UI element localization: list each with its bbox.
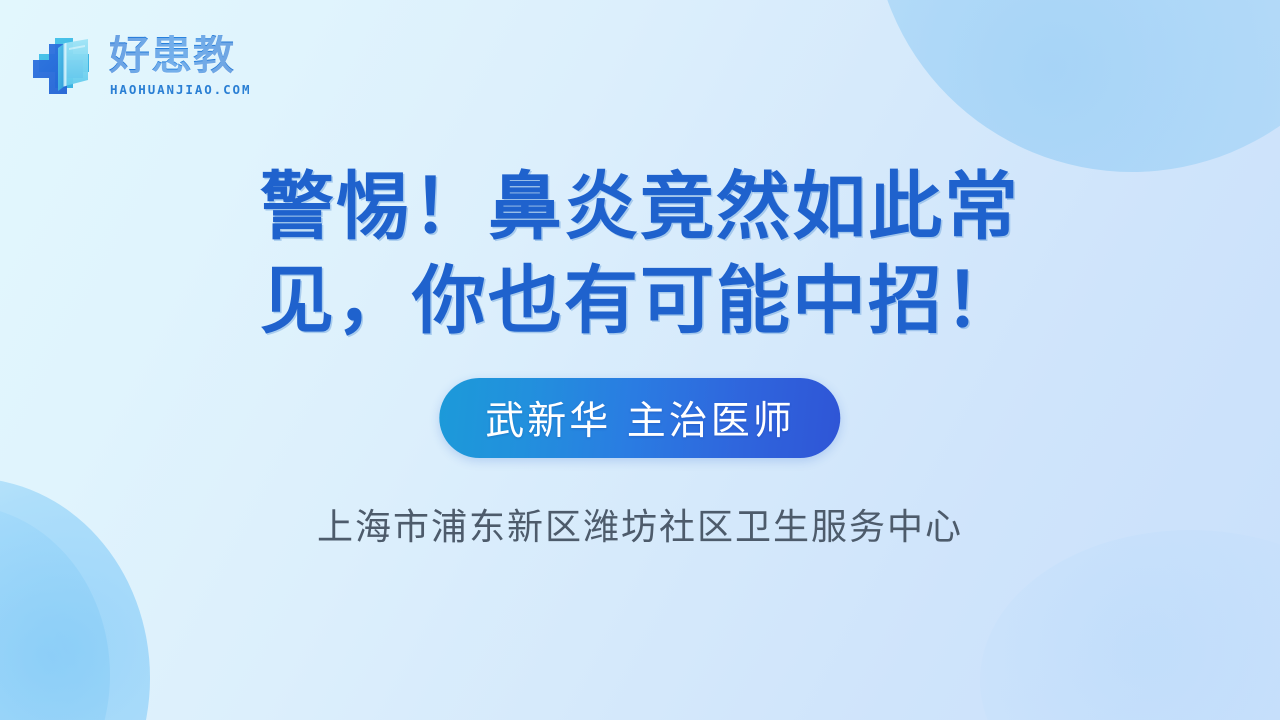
doctor-badge-label: 武新华 主治医师 [485, 390, 794, 446]
brand-tagline: HAOHUANJIAO.COM [110, 82, 251, 97]
brand-wordmark: 好患教 [109, 35, 251, 76]
hospital-name: 上海市浦东新区潍坊社区卫生服务中心 [0, 498, 1280, 550]
promo-poster: 好患教 HAOHUANJIAO.COM 警惕！鼻炎竟然如此常 见，你也有可能中招… [0, 0, 1280, 720]
headline-line-1: 警惕！鼻炎竟然如此常 [0, 160, 1280, 254]
doctor-badge[interactable]: 武新华 主治医师 [439, 378, 840, 458]
decorative-glow-bottom-right [980, 530, 1280, 720]
decorative-circle-top-right [872, 0, 1280, 172]
headline-line-2: 见，你也有可能中招！ [0, 254, 1280, 348]
brand-text-block: 好患教 HAOHUANJIAO.COM [109, 33, 251, 97]
page-title: 警惕！鼻炎竟然如此常 见，你也有可能中招！ [0, 160, 1280, 348]
brand-logo[interactable]: 好患教 HAOHUANJIAO.COM [28, 30, 251, 100]
medical-cross-book-icon [28, 30, 100, 100]
